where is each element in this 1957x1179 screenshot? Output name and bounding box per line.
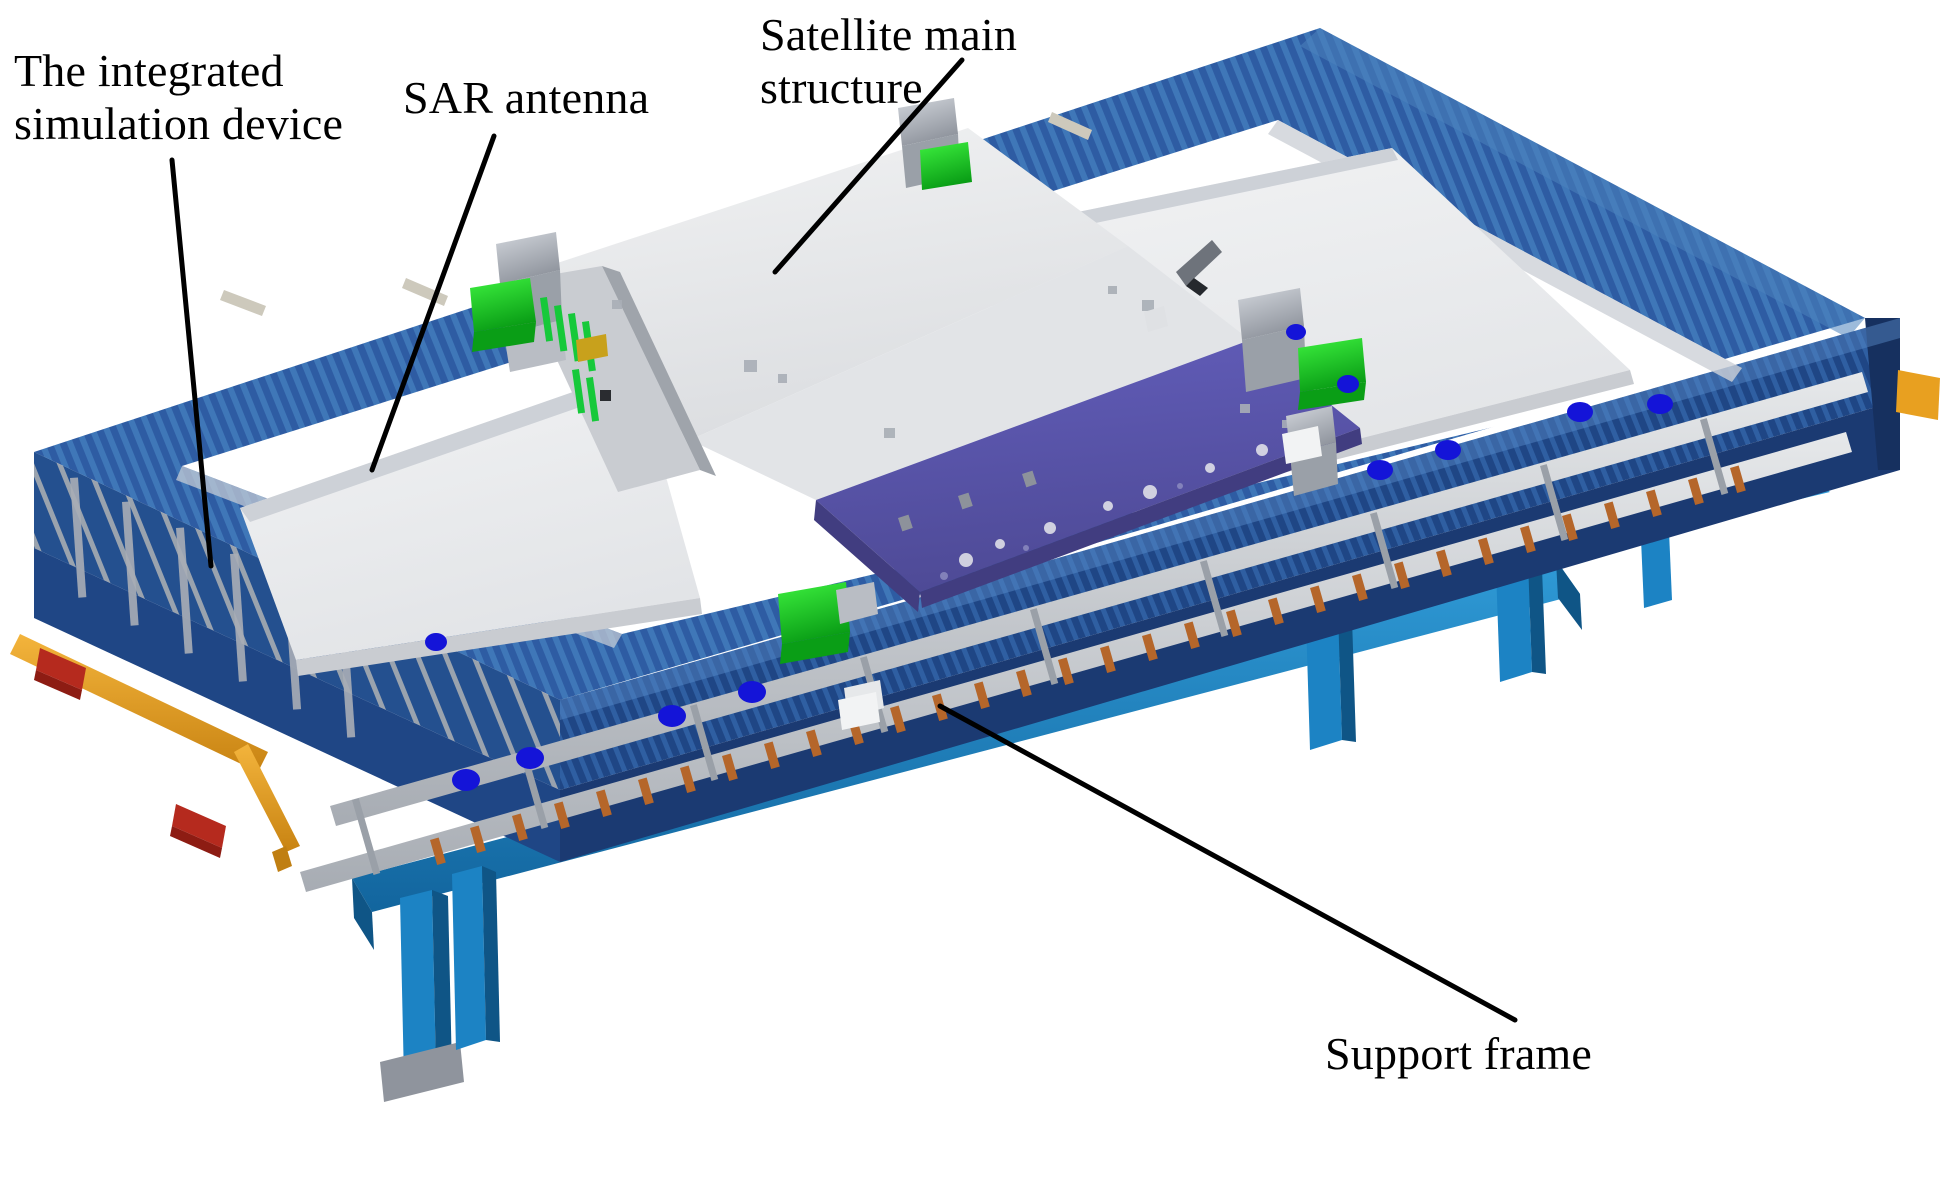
- cad-render-illustration: [0, 0, 1957, 1179]
- orange-end-block: [1896, 370, 1940, 420]
- label-sar-antenna: SAR antenna: [403, 72, 649, 124]
- leader-support-frame: [940, 706, 1515, 1020]
- figure-canvas: The integrated simulation device SAR ant…: [0, 0, 1957, 1179]
- label-support-frame: Support frame: [1325, 1028, 1592, 1080]
- green-clamp: [1298, 338, 1366, 410]
- gray-bracket: [1238, 288, 1306, 392]
- label-integrated-simulation-device: The integrated simulation device: [14, 44, 343, 151]
- label-satellite-main-structure: Satellite main structure: [760, 8, 1017, 115]
- green-clamp: [920, 142, 972, 190]
- green-clamp: [470, 278, 536, 352]
